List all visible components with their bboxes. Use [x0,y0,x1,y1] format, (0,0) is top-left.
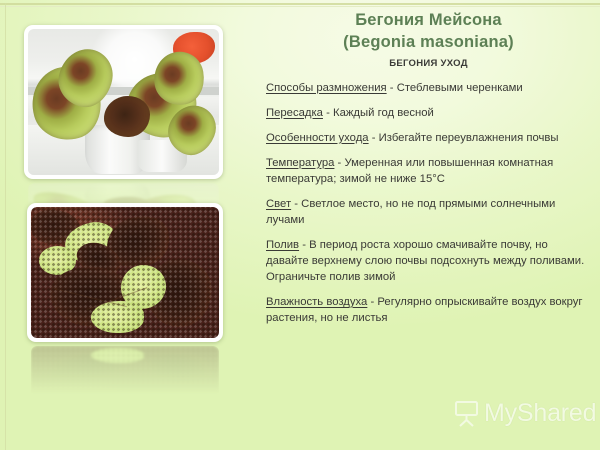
text-column: Бегония Мейсона (Begonia masoniana) БЕГО… [266,10,591,326]
windowsill-scene [28,29,219,175]
photo-image-2 [31,207,219,338]
care-label: Влажность воздуха [266,296,367,308]
care-separator: - [334,157,344,169]
care-text: Стеблевыми черенками [397,82,523,94]
care-separator: - [323,107,333,119]
photo-begonia-plant-on-windowsill [24,25,223,179]
care-text: Каждый год весной [333,107,434,119]
care-separator: - [387,82,397,94]
watermark-text: MyShared [484,399,596,428]
care-text: В период роста хорошо смачивайте почву, … [266,239,584,283]
care-item-propagation: Способы размножения - Стеблевыми черенка… [266,80,591,96]
care-text: Избегайте переувлажнения почвы [379,132,559,144]
top-divider [0,3,600,5]
care-item-watering: Полив - В период роста хорошо смачивайте… [266,237,591,285]
page-title: Бегония Мейсона (Begonia masoniana) [266,10,591,54]
care-separator: - [291,198,301,210]
care-label: Способы размножения [266,82,387,94]
leaf-speckle-texture [31,207,219,338]
begonia-leaf-dark [104,96,150,137]
title-line-2: (Begonia masoniana) [266,32,591,54]
title-line-1: Бегония Мейсона [266,10,591,32]
care-label: Полив [266,239,299,251]
myshared-watermark: MyShared [452,398,596,428]
leaf-macro-scene-mirror [31,346,219,408]
care-instructions-list: Способы размножения - Стеблевыми черенка… [266,80,591,326]
slide-canvas: Бегония Мейсона (Begonia masoniana) БЕГО… [0,0,600,450]
photo-reflection-2 [31,346,219,408]
care-label: Пересадка [266,107,323,119]
care-text: Светлое место, но не под прямыми солнечн… [266,198,555,226]
care-label: Особенности ухода [266,132,369,144]
leaf-macro-scene [31,207,219,338]
care-item-special-care: Особенности ухода - Избегайте переувлажн… [266,130,591,146]
care-item-temperature: Температура - Умеренная или повышенная к… [266,155,591,187]
care-label: Свет [266,198,291,210]
care-separator: - [367,296,377,308]
photo-begonia-leaf-closeup [27,203,223,342]
presentation-board-icon [452,398,482,428]
page-subtitle: БЕГОНИЯ УХОД [266,58,591,69]
care-label: Температура [266,157,334,169]
left-divider [5,3,6,450]
title-block: Бегония Мейсона (Begonia masoniana) БЕГО… [266,10,591,69]
care-separator: - [369,132,379,144]
leaf-speckle-texture-mirror [31,346,219,408]
care-item-repotting: Пересадка - Каждый год весной [266,105,591,121]
care-item-humidity: Влажность воздуха - Регулярно опрыскивай… [266,294,591,326]
care-item-light: Свет - Светлое место, но не под прямыми … [266,196,591,228]
photo-image-1 [28,29,219,175]
care-separator: - [299,239,309,251]
top-divider-secondary [0,6,600,7]
photo-reflection-inner-2 [31,346,219,408]
